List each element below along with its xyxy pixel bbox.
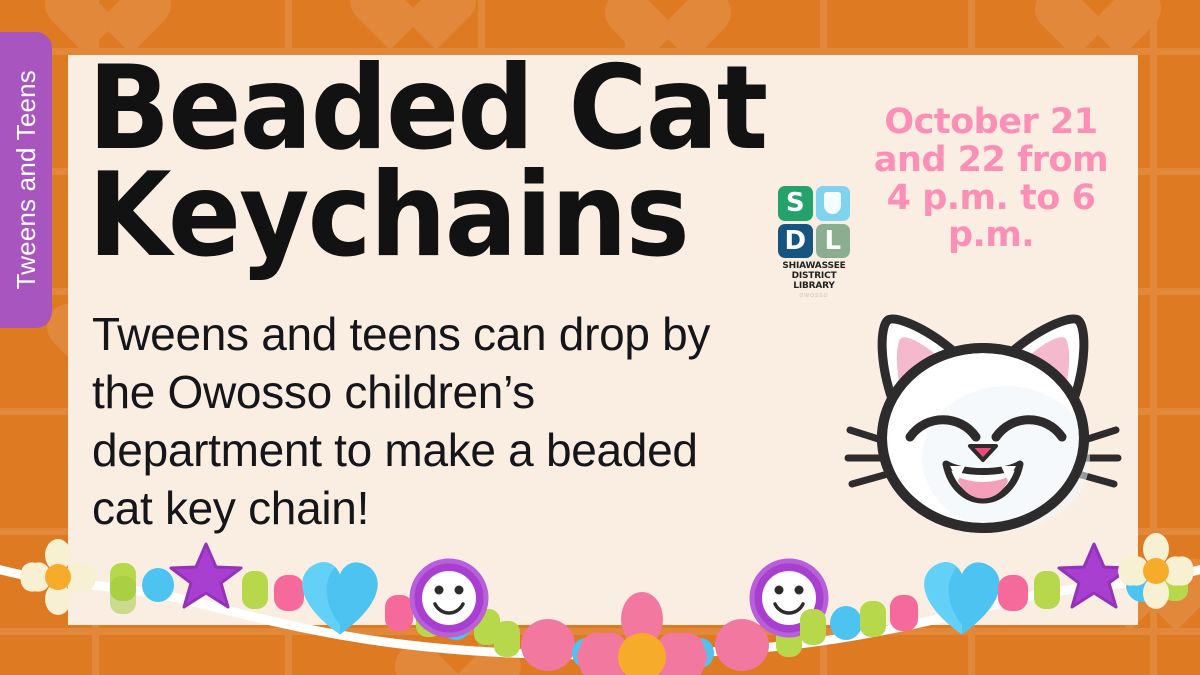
library-logo: S D L SHIAWASSEE DISTRICT LIBRARY OWOSSO xyxy=(772,186,856,299)
event-datetime-line-3: 4 p.m. to 6 xyxy=(860,180,1122,218)
logo-letter-d: D xyxy=(778,224,813,259)
event-datetime-line-1: October 21 xyxy=(860,104,1122,142)
event-description: Tweens and teens can drop by the Owosso … xyxy=(92,306,832,538)
page-title: Beaded Cat Keychains xyxy=(88,56,823,269)
event-datetime: October 21 and 22 from 4 p.m. to 6 p.m. xyxy=(860,104,1122,255)
event-datetime-line-4: p.m. xyxy=(860,217,1122,255)
logo-wordmark: SHIAWASSEE DISTRICT LIBRARY xyxy=(772,262,856,292)
event-datetime-line-2: and 22 from xyxy=(860,142,1122,180)
page-title-line-2: Keychains xyxy=(88,163,823,270)
logo-letter-l: L xyxy=(816,224,851,259)
logo-city-label: OWOSSO xyxy=(772,293,856,299)
flyer-canvas: Tweens and Teens Beaded Cat Keychains Oc… xyxy=(0,0,1200,675)
audience-tab: Tweens and Teens xyxy=(0,32,52,328)
page-title-line-1: Beaded Cat xyxy=(88,56,823,163)
logo-wordmark-line-2: DISTRICT LIBRARY xyxy=(772,272,856,292)
event-description-line-2: the Owosso children’s xyxy=(92,364,832,422)
cat-illustration xyxy=(838,298,1128,536)
book-shield-icon xyxy=(816,186,851,221)
logo-letter-s: S xyxy=(778,186,813,221)
logo-mark: S D L xyxy=(778,186,850,258)
beaded-bracelet-border xyxy=(0,505,1200,675)
event-description-line-1: Tweens and teens can drop by xyxy=(92,306,832,364)
audience-tab-label: Tweens and Teens xyxy=(11,70,42,290)
event-description-line-3: department to make a beaded xyxy=(92,422,832,480)
